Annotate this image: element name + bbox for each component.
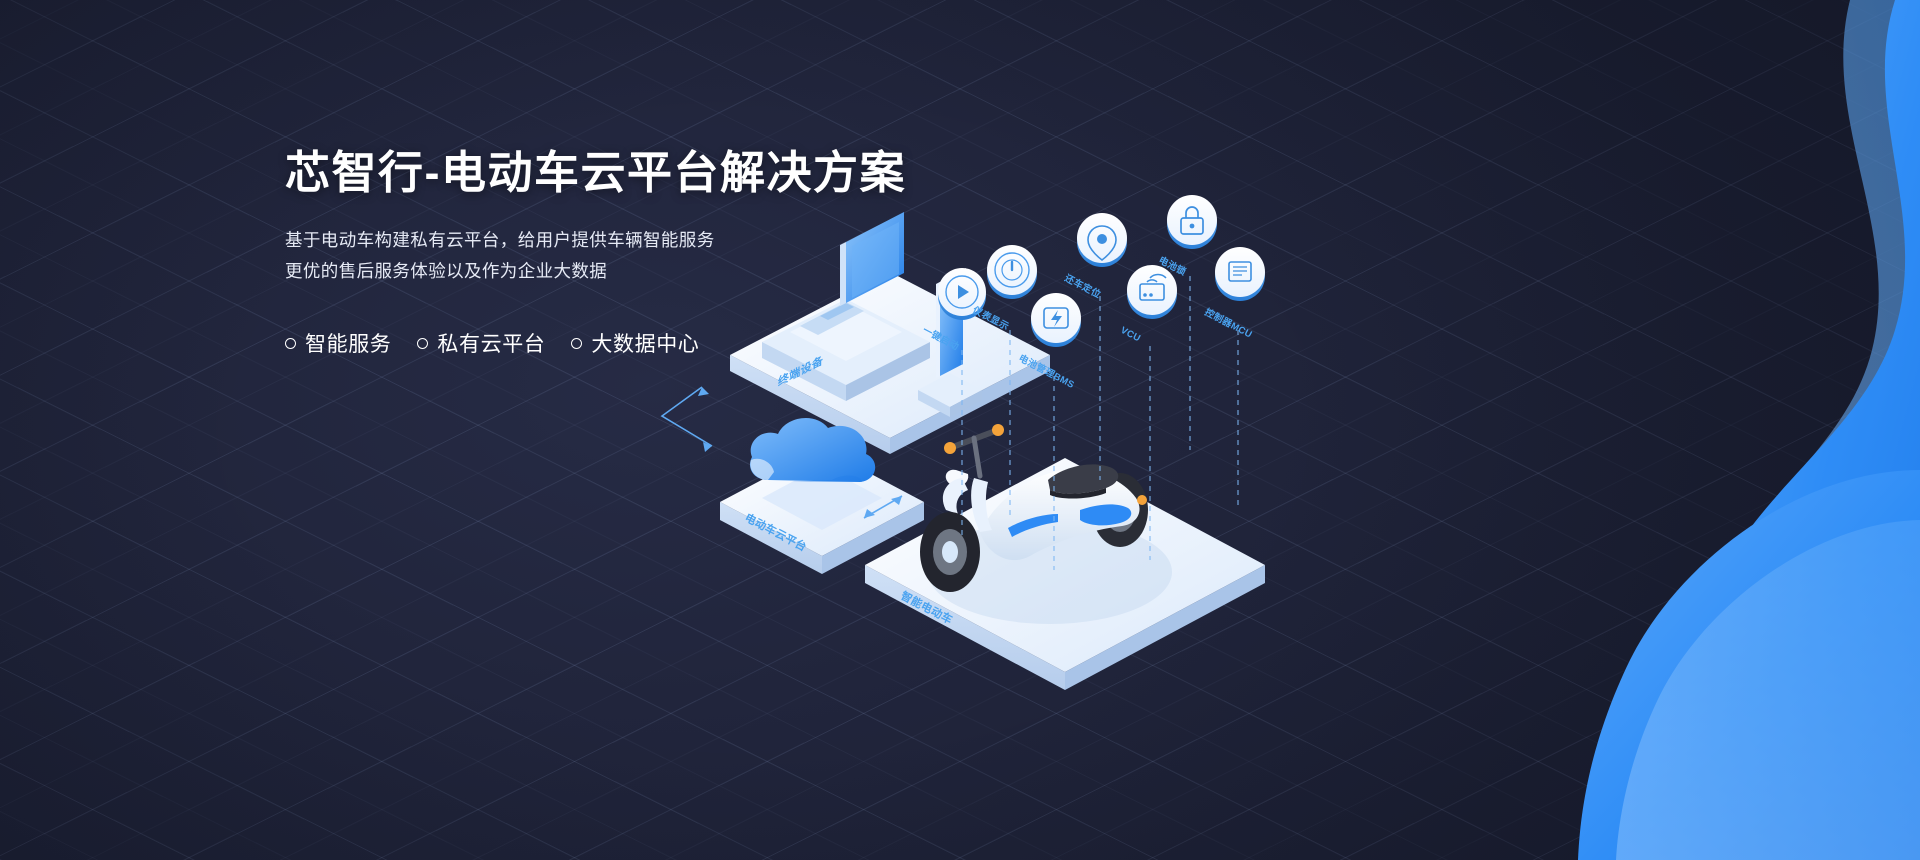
badge-battery-lock[interactable]: 电池锁 xyxy=(1157,195,1217,278)
badge-label: 控制器MCU xyxy=(1203,306,1255,341)
feature-item-smart-service[interactable]: 智能服务 xyxy=(285,328,391,358)
connector-terminal-cloud xyxy=(662,387,712,452)
front-wheel xyxy=(920,478,980,592)
badge-vcu[interactable]: VCU xyxy=(1119,265,1177,344)
feature-label: 私有云平台 xyxy=(437,328,545,358)
handlebar xyxy=(944,424,1004,486)
scooter-group: 智能电动车 xyxy=(865,424,1265,690)
badge-return-location[interactable]: 还车定位 xyxy=(1062,213,1127,301)
electric-scooter-icon xyxy=(920,424,1172,624)
circle-outline-icon xyxy=(285,338,296,349)
badge-label: VCU xyxy=(1119,325,1143,344)
badge-mcu-controller[interactable]: 控制器MCU xyxy=(1203,247,1265,341)
circle-outline-icon xyxy=(417,338,428,349)
hero-banner: 芯智行-电动车云平台解决方案 基于电动车构建私有云平台，给用户提供车辆智能服务 … xyxy=(0,0,1920,860)
feature-label: 智能服务 xyxy=(305,328,391,358)
feature-item-private-cloud[interactable]: 私有云平台 xyxy=(417,328,545,358)
isometric-illustration: 终端设备 电动车云平台 xyxy=(650,180,1330,820)
circle-outline-icon xyxy=(571,338,582,349)
